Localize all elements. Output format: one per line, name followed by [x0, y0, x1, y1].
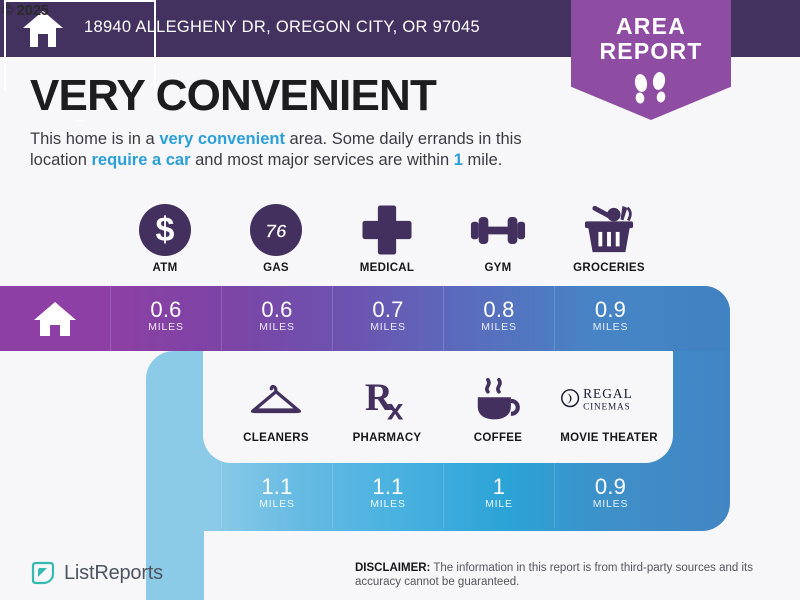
category-groceries: GROCERIES: [554, 202, 664, 274]
category-gas: 76 GAS: [221, 202, 331, 274]
distance-unit: MILES: [555, 498, 666, 510]
summary-highlight-1: very convenient: [159, 130, 285, 148]
category-label: GAS: [221, 262, 331, 274]
disclaimer: DISCLAIMER: The information in this repo…: [355, 561, 785, 589]
distance-value: 0.6: [222, 298, 332, 321]
dumbbell-icon: [443, 202, 553, 258]
distance-cell-cleaners: 1.1 MILES: [221, 463, 332, 528]
distance-unit: MILES: [333, 321, 443, 333]
listreports-logo: ListReports: [30, 560, 163, 586]
category-label: CLEANERS: [221, 432, 331, 444]
distance-value: 0.8: [444, 298, 554, 321]
distance-unit: MILES: [222, 321, 332, 333]
home-icon: [33, 299, 77, 339]
distance-bar-row-1: 0.6 MILES 0.6 MILES 0.7 MILES 0.8 MILES …: [0, 286, 730, 351]
category-label: GYM: [443, 262, 553, 274]
regal-cinemas-logo: REGAL CINEMAS: [554, 372, 664, 428]
badge-line-2: REPORT: [571, 39, 731, 64]
distance-value: 1: [444, 475, 554, 498]
category-movie-theater: REGAL CINEMAS MOVIE THEATER: [554, 372, 664, 444]
category-label: PHARMACY: [332, 432, 442, 444]
category-medical: MEDICAL: [332, 202, 442, 274]
distance-unit: MILES: [555, 321, 666, 333]
category-label: MEDICAL: [332, 262, 442, 274]
distance-cell-movie-theater: 0.9 MILES: [554, 463, 666, 528]
distance-unit: MILE: [444, 498, 554, 510]
distance-cell-atm: 0.6 MILES: [110, 286, 221, 351]
shopping-basket-icon: [554, 202, 664, 258]
title-block: VERY CONVENIENT This home is in a very c…: [30, 72, 570, 171]
property-address: 18940 ALLEGHENY DR, OREGON CITY, OR 9704…: [84, 18, 480, 37]
category-cleaners: CLEANERS: [221, 372, 331, 444]
clothes-hanger-icon: [221, 372, 331, 428]
category-coffee: COFFEE: [443, 372, 553, 444]
coffee-cup-icon: [443, 372, 553, 428]
category-atm: $ ATM: [110, 202, 220, 274]
distance-cell-medical: 0.7 MILES: [332, 286, 443, 351]
disclaimer-label: DISCLAIMER:: [355, 562, 430, 574]
distance-cell-gym: 0.8 MILES: [443, 286, 554, 351]
distance-unit: MILES: [111, 321, 221, 333]
svg-text:76: 76: [265, 221, 287, 242]
badge-line-1: AREA: [571, 14, 731, 39]
svg-text:CINEMAS: CINEMAS: [583, 402, 630, 412]
page-summary: This home is in a very convenient area. …: [30, 129, 570, 171]
page-title: VERY CONVENIENT: [30, 72, 570, 120]
summary-highlight-2: require a car: [91, 151, 190, 169]
svg-text:REGAL: REGAL: [583, 386, 633, 401]
distance-value: 0.9: [555, 475, 666, 498]
home-marker-cell: [0, 286, 110, 351]
category-label: COFFEE: [443, 432, 553, 444]
dollar-sign-icon: $: [110, 202, 220, 258]
area-report-badge-title: AREA REPORT: [571, 14, 731, 64]
distance-unit: MILES: [333, 498, 443, 510]
distance-value: 0.9: [555, 298, 666, 321]
gas-76-icon: 76: [221, 202, 331, 258]
category-gym: GYM: [443, 202, 553, 274]
summary-highlight-3: 1: [454, 151, 463, 169]
summary-text-1: This home is in a: [30, 130, 159, 148]
distance-cell-gas: 0.6 MILES: [221, 286, 332, 351]
medical-cross-icon: [332, 202, 442, 258]
category-label: GROCERIES: [554, 262, 664, 274]
bar-row-2-tail-rounded-corner: [204, 531, 264, 600]
footprints-icon: [626, 72, 676, 108]
distance-value: 1.1: [222, 475, 332, 498]
distance-value: 0.7: [333, 298, 443, 321]
category-label: MOVIE THEATER: [554, 432, 664, 444]
listreports-wordmark: ListReports: [64, 562, 163, 585]
category-pharmacy: R x PHARMACY: [332, 372, 442, 444]
svg-text:x: x: [387, 393, 404, 423]
copyright-watermark: © 2025: [2, 2, 49, 19]
summary-text-3: and most major services are within: [191, 151, 454, 169]
rx-icon: R x: [332, 372, 442, 428]
distance-value: 0.6: [111, 298, 221, 321]
distance-cell-coffee: 1 MILE: [443, 463, 554, 528]
distance-unit: MILES: [444, 321, 554, 333]
category-label: ATM: [110, 262, 220, 274]
summary-text-4: mile.: [463, 151, 502, 169]
listreports-leaf-icon: [30, 560, 56, 586]
distance-unit: MILES: [222, 498, 332, 510]
distance-cell-pharmacy: 1.1 MILES: [332, 463, 443, 528]
area-report-infographic: © 2025 18940 ALLEGHENY DR, OREGON CITY, …: [0, 0, 800, 600]
distance-value: 1.1: [333, 475, 443, 498]
distance-cell-groceries: 0.9 MILES: [554, 286, 666, 351]
